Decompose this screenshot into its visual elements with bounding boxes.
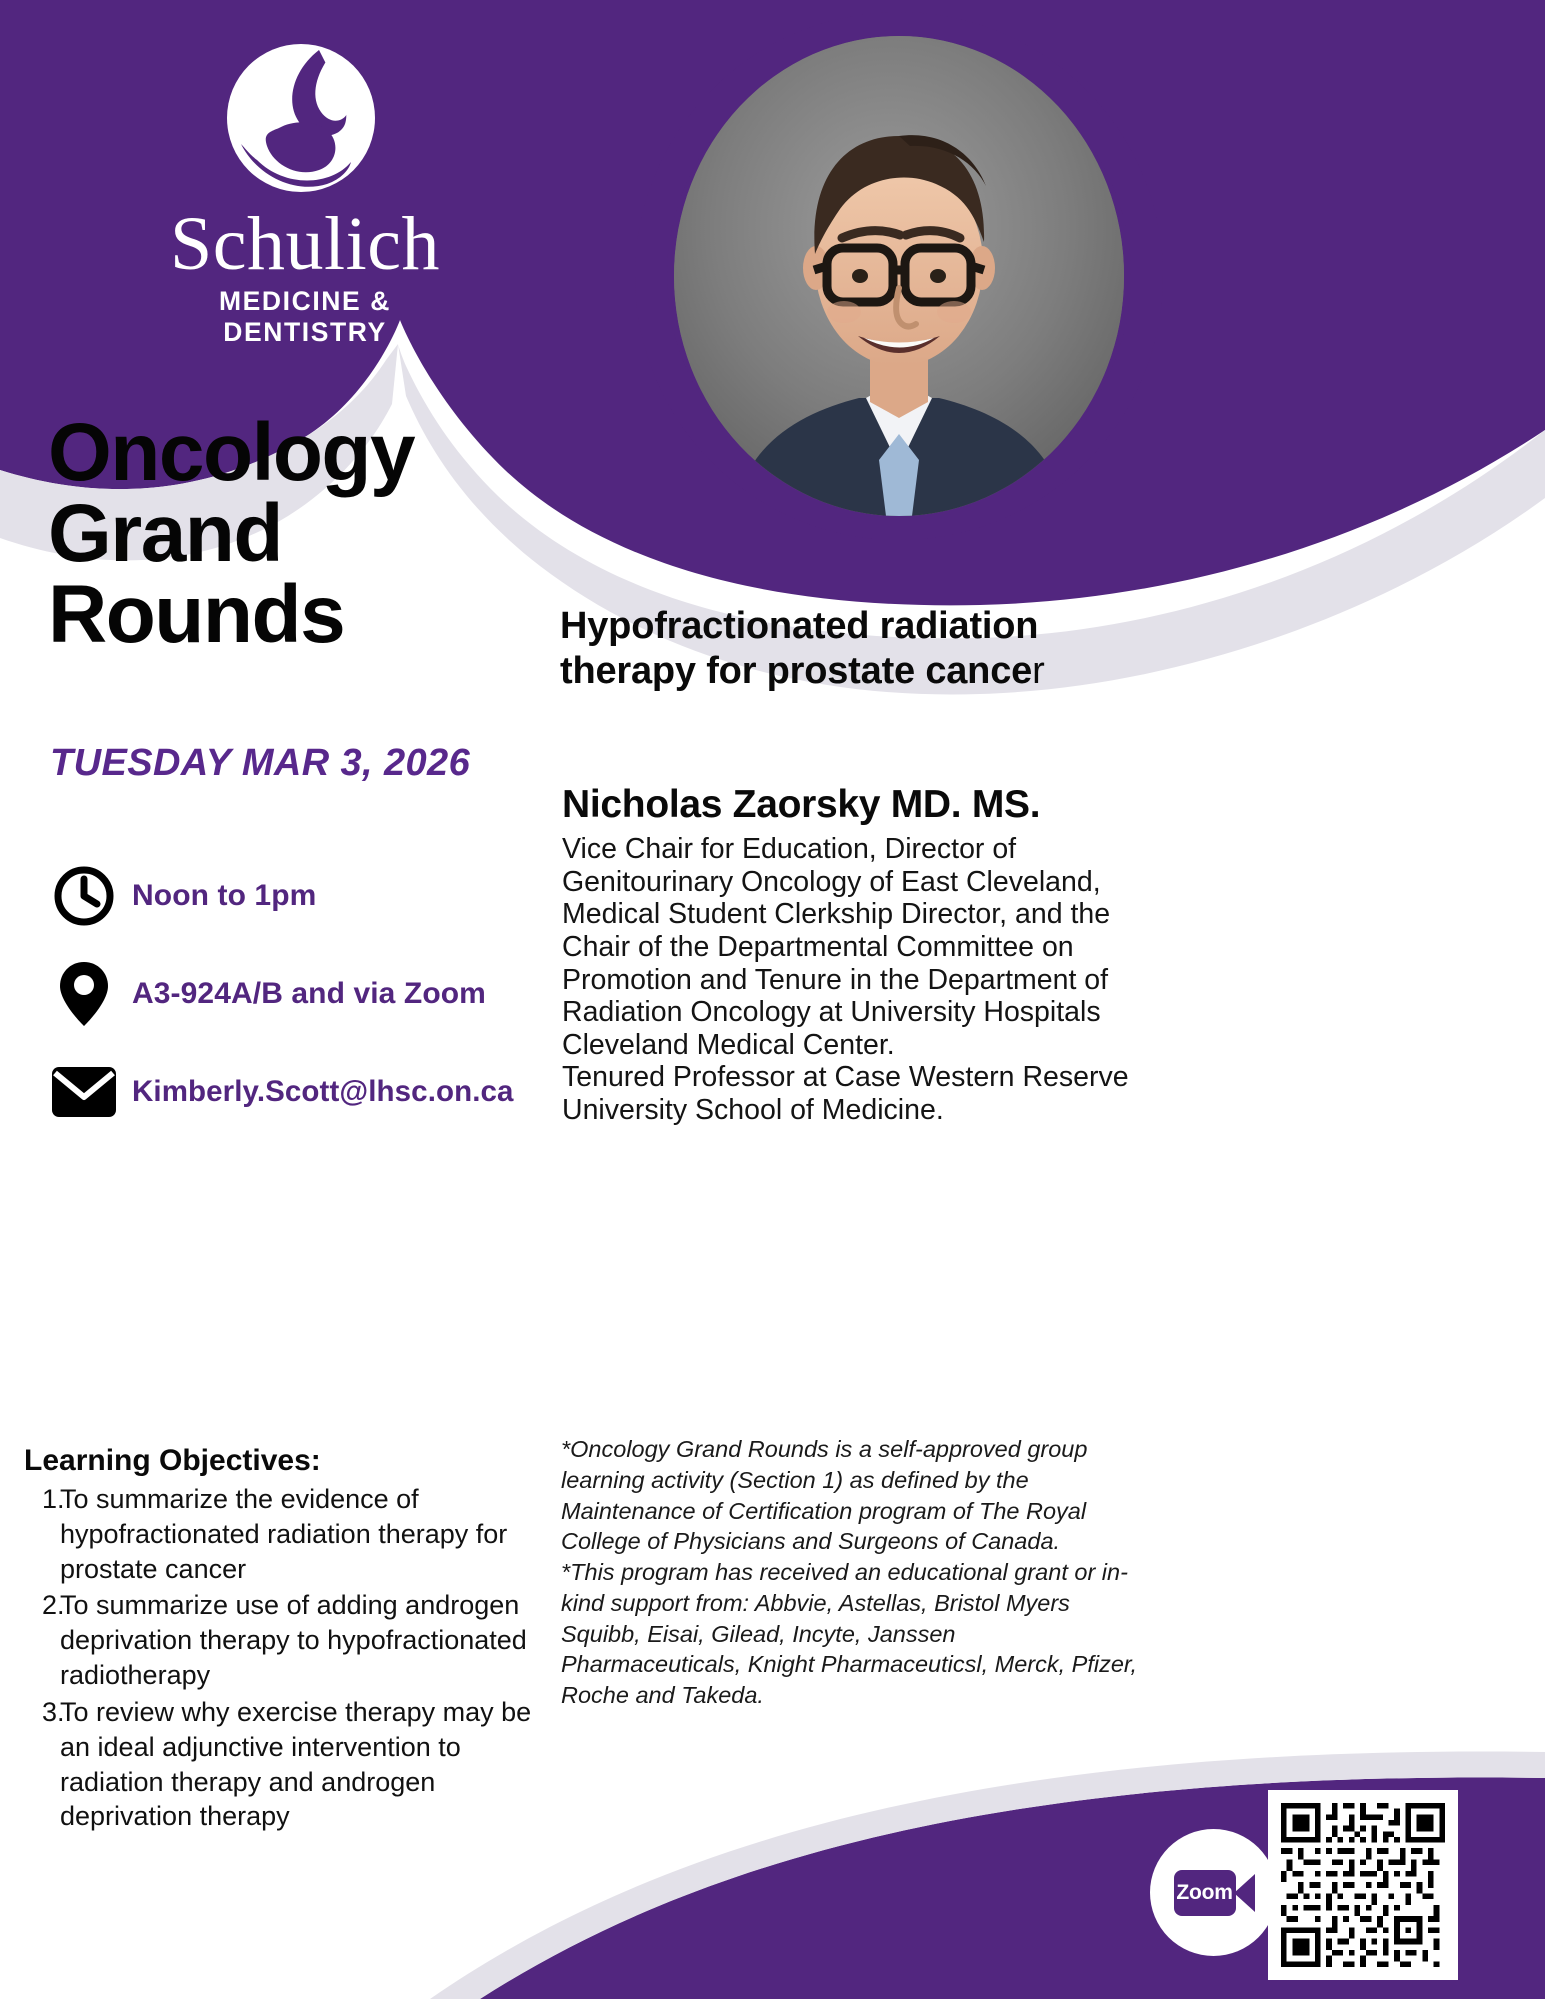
- title-line-2: Grand: [48, 493, 548, 574]
- list-item: 3. To review why exercise therapy may be…: [24, 1695, 554, 1834]
- talk-title: Hypofractionated radiation therapy for p…: [560, 604, 1080, 694]
- learning-objectives-heading: Learning Objectives:: [24, 1444, 554, 1478]
- list-item-number: 2.: [24, 1588, 60, 1692]
- talk-title-tail: r: [1032, 650, 1044, 692]
- title-line-1: Oncology: [48, 412, 548, 493]
- list-item-text: To summarize the evidence of hypofractio…: [60, 1482, 554, 1586]
- list-item: 1. To summarize the evidence of hypofrac…: [24, 1482, 554, 1586]
- zoom-lens-shape: [1234, 1874, 1255, 1912]
- event-date: TUESDAY MAR 3, 2026: [50, 742, 470, 785]
- list-item-text: To review why exercise therapy may be an…: [60, 1695, 554, 1834]
- detail-row-email[interactable]: Kimberly.Scott@lhsc.on.ca: [48, 1044, 568, 1140]
- detail-email-text[interactable]: Kimberly.Scott@lhsc.on.ca: [120, 1075, 514, 1109]
- speaker-bio-line: University School of Medicine.: [562, 1094, 1170, 1127]
- speaker-bio-line: Medical Student Clerkship Director, and …: [562, 898, 1170, 931]
- qr-code-pattern: [1281, 1803, 1445, 1967]
- disclaimer-paragraph-1: *Oncology Grand Rounds is a self-approve…: [561, 1434, 1141, 1557]
- list-item-number: 3.: [24, 1695, 60, 1834]
- zoom-label: Zoom: [1174, 1870, 1236, 1916]
- speaker-bio-line: Genitourinary Oncology of East Cleveland…: [562, 866, 1170, 899]
- speaker-bio-line: Promotion and Tenure in the Department o…: [562, 964, 1170, 997]
- speaker-bio-line: Tenured Professor at Case Western Reserv…: [562, 1061, 1170, 1094]
- schulich-crest-icon: [223, 36, 387, 200]
- poster-canvas: Schulich MEDICINE & DENTISTRY: [0, 0, 1545, 1999]
- speaker-portrait-illustration: [674, 36, 1124, 516]
- detail-location-text: A3-924A/B and via Zoom: [120, 977, 486, 1011]
- speaker-bio-line: Cleveland Medical Center.: [562, 1029, 1170, 1062]
- map-pin-icon: [48, 960, 120, 1028]
- disclaimer-paragraph-2: *This program has received an educationa…: [561, 1557, 1141, 1711]
- talk-title-main: Hypofractionated radiation therapy for p…: [560, 605, 1038, 692]
- speaker-bio: Vice Chair for Education, Director of Ge…: [562, 833, 1170, 1127]
- zoom-camera-icon: Zoom: [1174, 1870, 1254, 1916]
- page-title: Oncology Grand Rounds: [48, 412, 548, 656]
- speaker-photo: [674, 36, 1124, 516]
- title-line-3: Rounds: [48, 574, 548, 655]
- envelope-icon: [48, 1066, 120, 1118]
- learning-objectives: Learning Objectives: 1. To summarize the…: [24, 1444, 554, 1836]
- list-item-text: To summarize use of adding androgen depr…: [60, 1588, 554, 1692]
- speaker-name: Nicholas Zaorsky MD. MS.: [562, 783, 1040, 827]
- list-item: 2. To summarize use of adding androgen d…: [24, 1588, 554, 1692]
- speaker-bio-line: Chair of the Departmental Committee on: [562, 931, 1170, 964]
- qr-code[interactable]: [1268, 1790, 1458, 1980]
- speaker-bio-line: Vice Chair for Education, Director of: [562, 833, 1170, 866]
- detail-time-text: Noon to 1pm: [120, 879, 316, 913]
- event-details-list: Noon to 1pm A3-924A/B and via Zoom Kimbe…: [48, 848, 568, 1142]
- zoom-logo-badge[interactable]: Zoom: [1150, 1829, 1277, 1956]
- logo-subtitle: MEDICINE & DENTISTRY: [140, 286, 470, 348]
- list-item-number: 1.: [24, 1482, 60, 1586]
- clock-icon: [48, 865, 120, 927]
- logo-wordmark: Schulich: [140, 208, 470, 280]
- learning-objectives-list: 1. To summarize the evidence of hypofrac…: [24, 1482, 554, 1834]
- detail-row-location: A3-924A/B and via Zoom: [48, 946, 568, 1042]
- detail-row-time: Noon to 1pm: [48, 848, 568, 944]
- accreditation-disclaimer: *Oncology Grand Rounds is a self-approve…: [561, 1434, 1141, 1711]
- speaker-bio-line: Radiation Oncology at University Hospita…: [562, 996, 1170, 1029]
- schulich-logo: Schulich MEDICINE & DENTISTRY: [140, 36, 470, 348]
